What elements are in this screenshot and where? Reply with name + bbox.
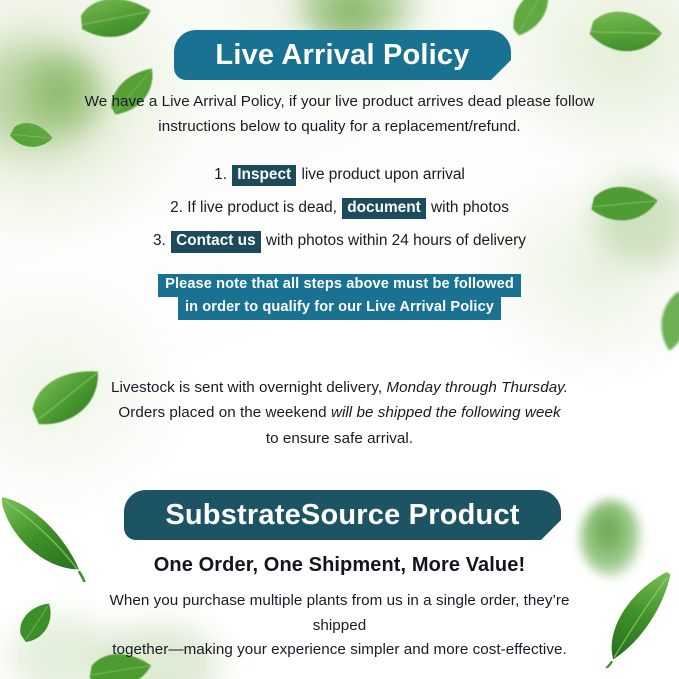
step-number: 3.	[153, 232, 166, 249]
shipping-line-2: Orders placed on the weekend will be shi…	[104, 400, 575, 425]
step-item: 1. Inspect live product upon arrival	[0, 165, 679, 186]
promo-content: Live Arrival Policy We have a Live Arriv…	[0, 0, 679, 679]
intro-line-2: instructions below to quality for a repl…	[74, 115, 605, 140]
substratesource-body-paragraph: When you purchase multiple plants from u…	[0, 589, 679, 663]
shipping-line-2-italic: will be shipped the following week	[331, 404, 561, 421]
shipping-line-1-italic: Monday through Thursday.	[386, 379, 568, 396]
step-highlight-contact-us: Contact us	[171, 231, 261, 252]
step-text-pre: If live product is dead,	[187, 199, 337, 216]
step-text: with photos	[431, 199, 509, 216]
live-arrival-steps-list: 1. Inspect live product upon arrival 2. …	[0, 165, 679, 265]
step-item: 3. Contact us with photos within 24 hour…	[0, 231, 679, 252]
shipping-line-1-plain: Livestock is sent with overnight deliver…	[111, 379, 382, 396]
banner-live-arrival-policy-label: Live Arrival Policy	[215, 39, 469, 72]
live-arrival-intro-paragraph: We have a Live Arrival Policy, if your l…	[0, 90, 679, 139]
step-text: with photos within 24 hours of delivery	[266, 232, 526, 249]
intro-line-1: We have a Live Arrival Policy, if your l…	[74, 90, 605, 115]
note-line-1: Please note that all steps above must be…	[158, 274, 521, 297]
step-highlight-document: document	[342, 198, 426, 219]
banner-substratesource-product: SubstrateSource Product	[124, 490, 561, 540]
shipping-line-3: to ensure safe arrival.	[104, 426, 575, 451]
banner-substratesource-product-label: SubstrateSource Product	[165, 499, 519, 532]
step-highlight-inspect: Inspect	[232, 165, 296, 186]
promo-graphic-root: Live Arrival Policy We have a Live Arriv…	[0, 0, 679, 679]
step-item: 2. If live product is dead, document wit…	[0, 198, 679, 219]
substratesource-body-line-2: together—making your experience simpler …	[84, 638, 595, 663]
step-text: live product upon arrival	[301, 166, 464, 183]
note-line-2: in order to qualify for our Live Arrival…	[178, 297, 501, 320]
step-number: 1.	[214, 166, 227, 183]
substratesource-subheading: One Order, One Shipment, More Value!	[0, 554, 679, 577]
shipping-line-2-plain: Orders placed on the weekend	[118, 404, 326, 421]
live-arrival-note: Please note that all steps above must be…	[0, 274, 679, 320]
shipping-line-1: Livestock is sent with overnight deliver…	[104, 375, 575, 400]
substratesource-body-line-1: When you purchase multiple plants from u…	[84, 589, 595, 638]
shipping-schedule-paragraph: Livestock is sent with overnight deliver…	[0, 375, 679, 451]
banner-live-arrival-policy: Live Arrival Policy	[174, 30, 511, 80]
step-number: 2.	[170, 199, 183, 216]
